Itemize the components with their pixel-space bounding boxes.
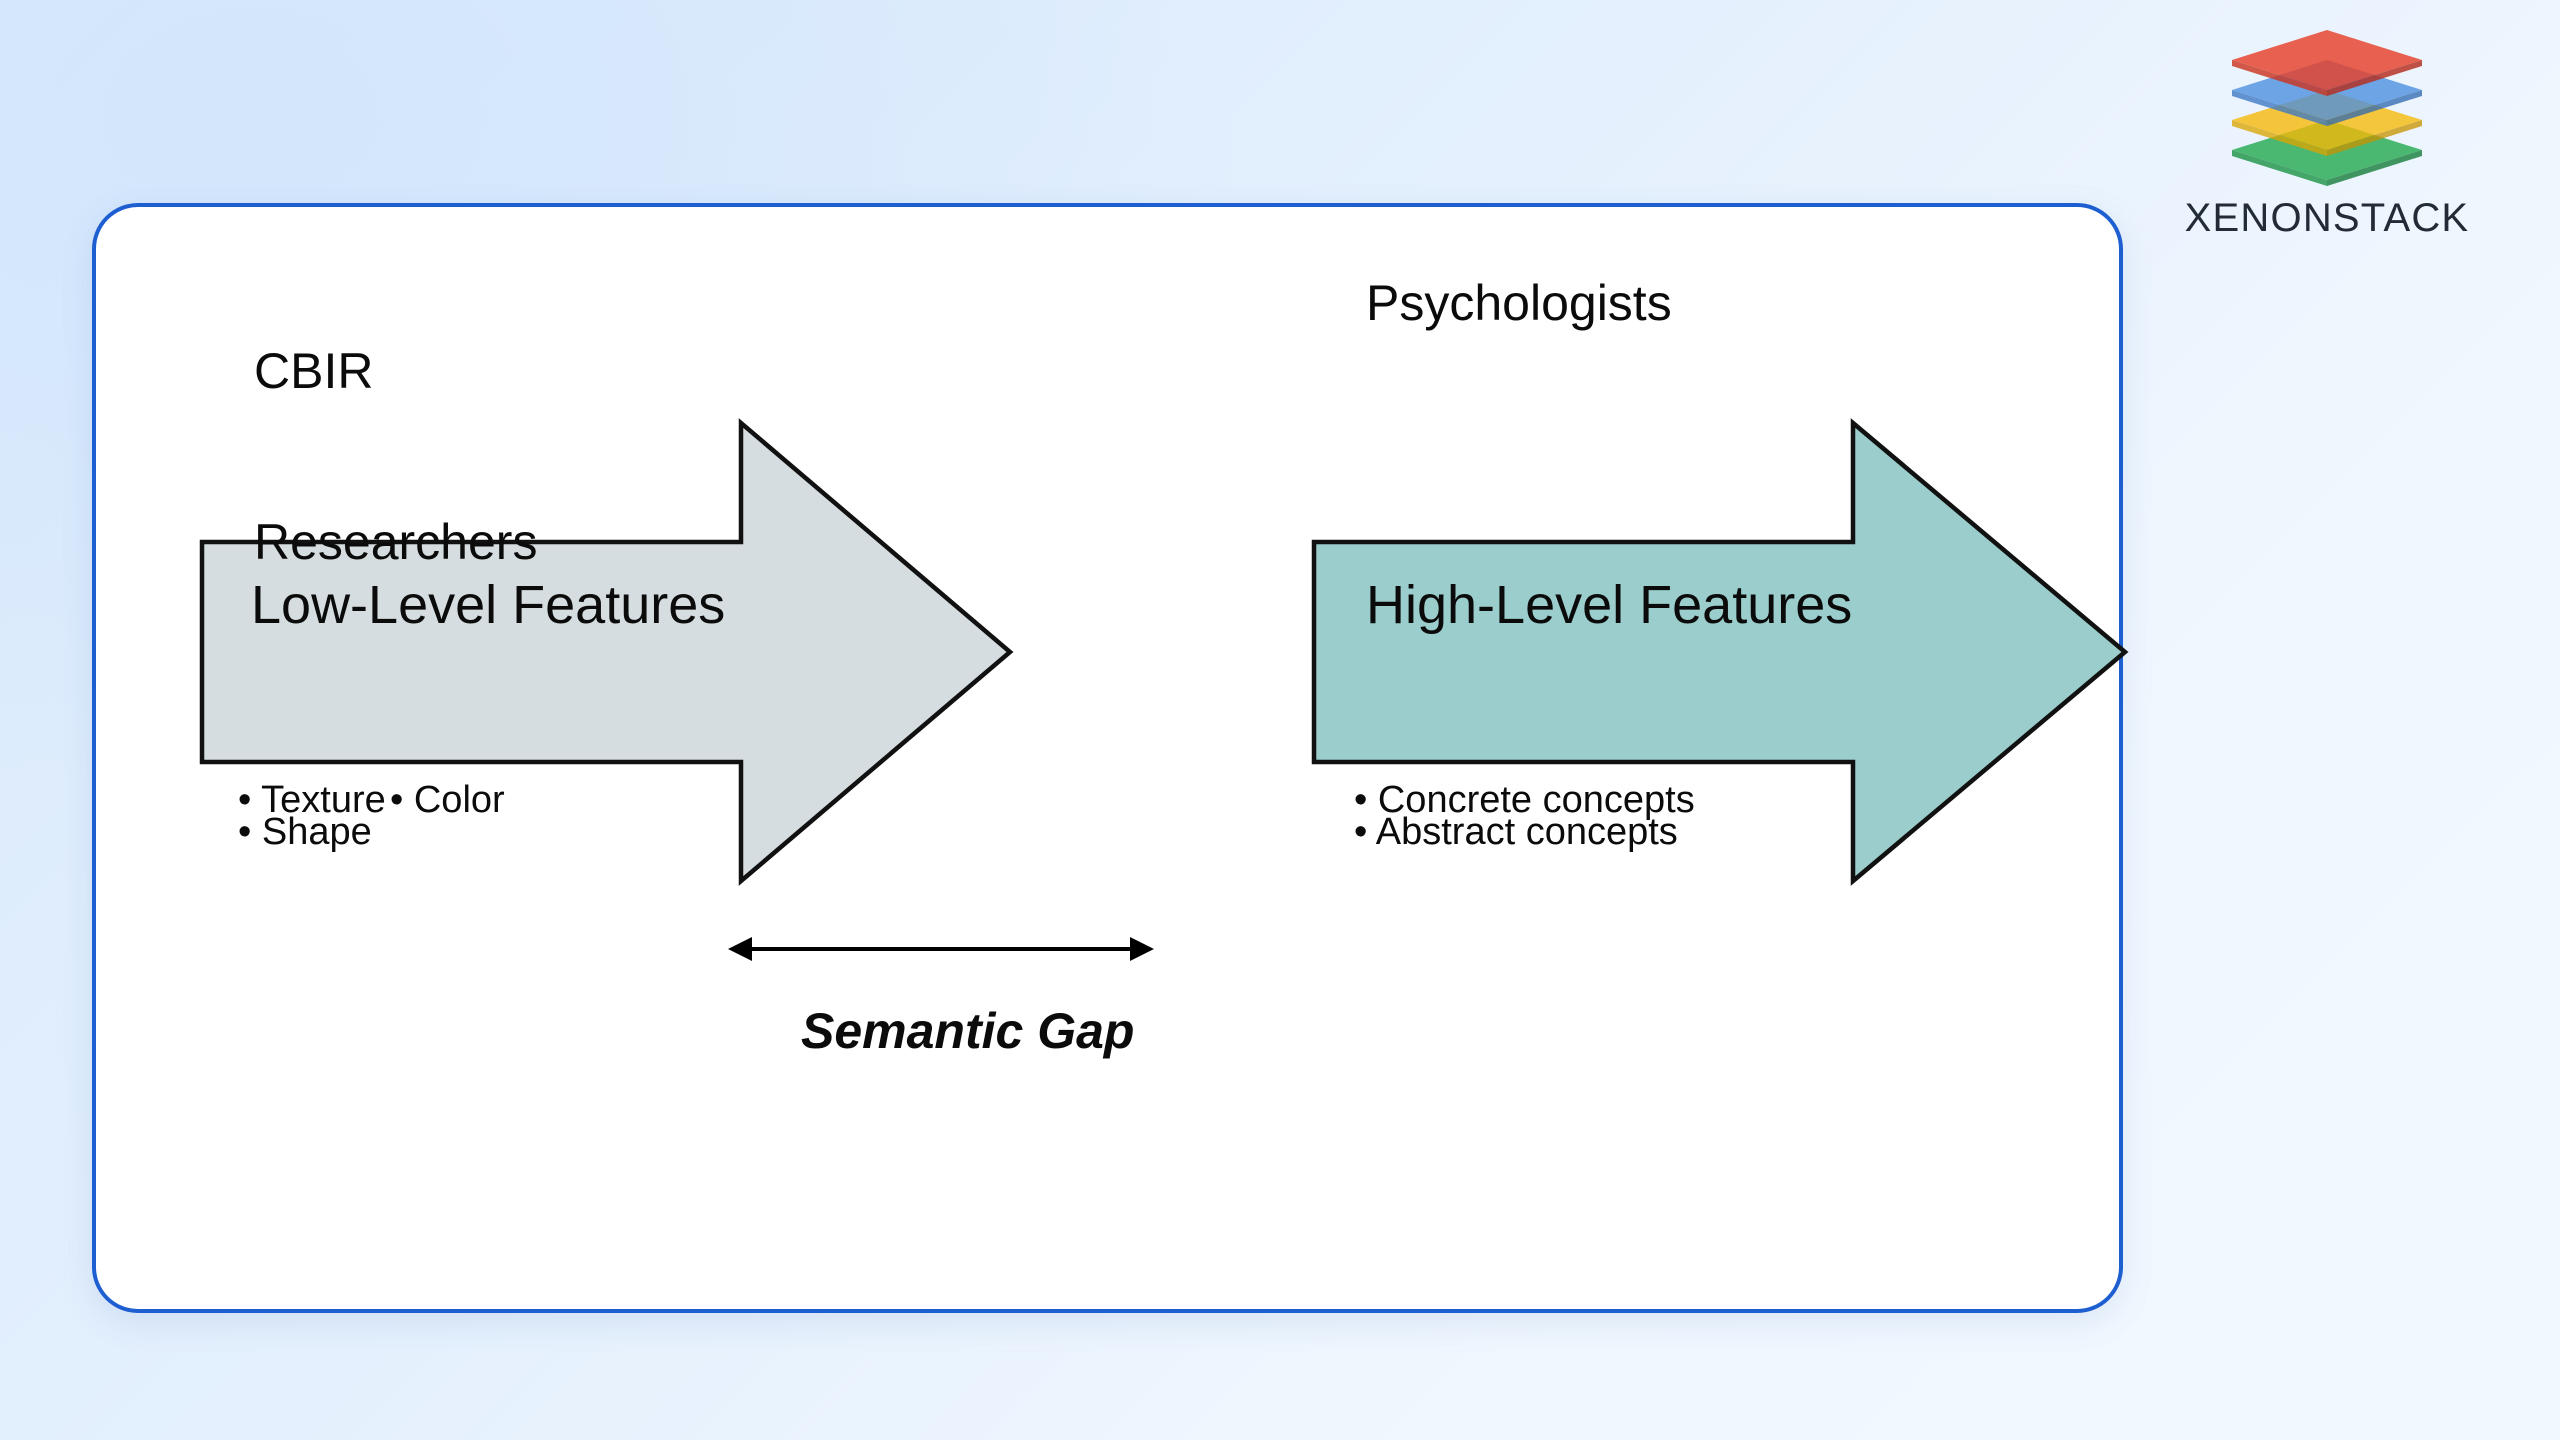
list-item-shape: • Shape (238, 809, 372, 856)
stacked-layers-icon (2222, 28, 2432, 188)
low-level-features-group: CBIR Researchers Low-Level Features • Te… (96, 207, 1096, 1317)
high-level-feature-label: High-Level Features (1366, 574, 1852, 636)
list-item-color: • Color (390, 777, 505, 824)
diagram-card: CBIR Researchers Low-Level Features • Te… (92, 203, 2123, 1313)
double-headed-arrow-icon (726, 919, 1156, 979)
semantic-gap-diagram: CBIR Researchers Low-Level Features • Te… (96, 207, 2127, 1317)
brand-wordmark: XENONSTACK (2162, 196, 2492, 241)
high-level-header: Psychologists (1366, 275, 1672, 332)
low-level-header-line2: Researchers (254, 514, 537, 571)
list-item-abstract-concepts: • Abstract concepts (1354, 809, 1678, 856)
high-level-features-group: Psychologists High-Level Features • Conc… (1096, 207, 2127, 1317)
low-level-feature-label: Low-Level Features (251, 574, 725, 636)
low-level-header-line1: CBIR (254, 343, 537, 400)
screenshot-canvas: XENONSTACK CBIR Researchers Low-Level Fe… (0, 0, 2560, 1440)
brand-logo: XENONSTACK (2162, 28, 2492, 248)
semantic-gap-caption: Semantic Gap (801, 1002, 1134, 1060)
